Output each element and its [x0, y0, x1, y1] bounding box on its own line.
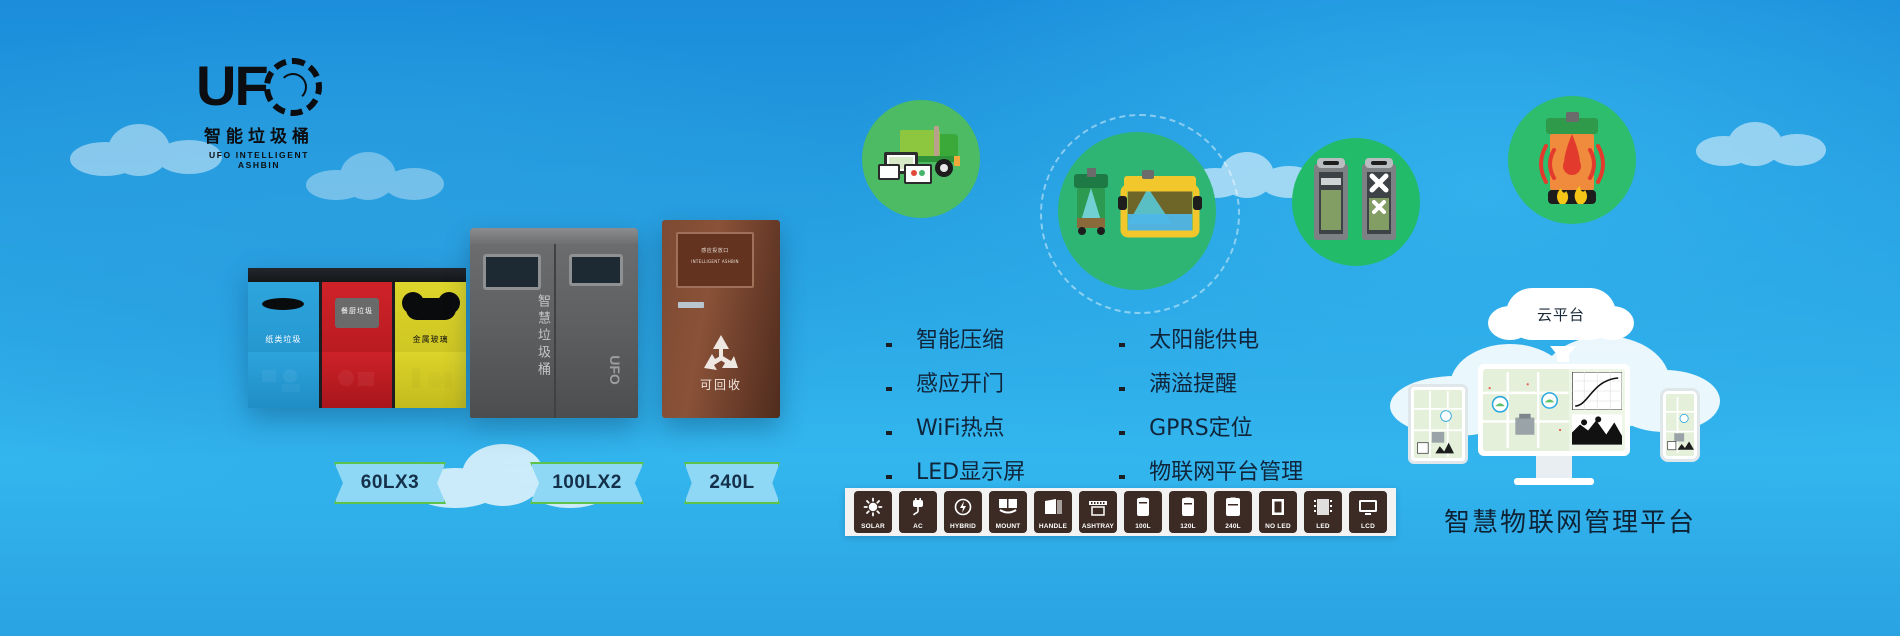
- iot-platform-illustration: 云平台: [1402, 288, 1704, 528]
- down-arrow-icon: [1550, 346, 1576, 362]
- feature-column-left: 智能压缩 感应开门 WiFi热点 LED显示屏: [878, 322, 1025, 486]
- spec-label: 100L: [1135, 523, 1151, 531]
- tablet-device: [1408, 384, 1468, 464]
- cloud-platform-tag: 云平台: [1506, 288, 1616, 340]
- recycle-icon: [698, 332, 744, 374]
- spec-label: HANDLE: [1039, 523, 1067, 531]
- spec-icon-ashtray[interactable]: ASHTRAY: [1079, 491, 1117, 533]
- cloud-decoration: [1690, 120, 1840, 170]
- spec-label: MOUNT: [996, 523, 1021, 531]
- bin-top-cover: [248, 268, 466, 282]
- product-brown-bin: 感应投放口 INTELLIGENT ASHBIN 可回收: [662, 220, 780, 418]
- feature-label: LED显示屏: [916, 454, 1025, 486]
- ufo-ring-icon: [264, 58, 322, 116]
- spec-icon-led[interactable]: LED: [1304, 491, 1342, 533]
- monitor-bullet-icon: [1111, 462, 1133, 479]
- map-dashboard: [1483, 369, 1569, 451]
- feature-label: WiFi热点: [916, 410, 1005, 442]
- logo-name-en: UFO INTELLIGENT ASHBIN: [196, 150, 322, 170]
- spec-label: LCD: [1361, 523, 1375, 531]
- capacity-badge-240l: 240L: [684, 462, 780, 504]
- monitor-screen: [1483, 369, 1625, 451]
- logo-name-cn: 智能垃圾桶: [196, 122, 322, 147]
- spec-icon-lcd[interactable]: LCD: [1349, 491, 1387, 533]
- monitor-stand: [1536, 456, 1572, 478]
- panel-line-1: 感应投放口: [678, 247, 752, 254]
- feature-list: 智能压缩 感应开门 WiFi热点 LED显示屏 太阳能供电 满溢提醒: [878, 322, 1303, 486]
- round-slot-icon: [406, 298, 456, 320]
- brand-badge: UFO: [607, 355, 623, 385]
- compartment-label: 纸类垃圾: [248, 334, 319, 345]
- monitor-bullet-icon: [878, 330, 900, 347]
- spec-label: AC: [913, 523, 923, 531]
- product-double-bin: 智慧垃圾桶 UFO: [470, 228, 638, 418]
- bin-lower-panel: [248, 352, 319, 408]
- bin-compartment-kitchen: 餐厨垃圾: [322, 282, 396, 408]
- feature-item: LED显示屏: [878, 454, 1025, 486]
- bin-240l-icon: [1214, 491, 1252, 523]
- brand-logo: UF 智能垃圾桶 UFO INTELLIGENT ASHBIN: [196, 56, 322, 156]
- fill-level-sensor-icon: [1058, 132, 1216, 290]
- chart-dashboard: [1569, 369, 1625, 451]
- display-screen: [483, 254, 541, 290]
- map-view: [1414, 390, 1462, 458]
- recycle-label: 可回收: [662, 376, 780, 393]
- feature-item: 感应开门: [878, 366, 1025, 398]
- feature-item: WiFi热点: [878, 410, 1025, 442]
- spec-icon-100l[interactable]: 100L: [1124, 491, 1162, 533]
- monitor-bullet-icon: [878, 418, 900, 435]
- area-chart: [1572, 412, 1622, 447]
- capacity-badge-60lx3: 60LX3: [334, 462, 446, 504]
- plug-icon: [899, 491, 937, 523]
- feature-label: 满溢提醒: [1149, 366, 1237, 398]
- monitor-bullet-icon: [1111, 418, 1133, 435]
- feature-label: 智能压缩: [916, 322, 1004, 354]
- spec-icon-solar[interactable]: SOLAR: [854, 491, 892, 533]
- spec-label: LED: [1316, 523, 1330, 531]
- logo-mark: UF: [196, 56, 322, 120]
- smartphone-device: [1660, 388, 1700, 462]
- spec-icon-no-led[interactable]: NO LED: [1259, 491, 1297, 533]
- compartment-label: 金属玻璃: [395, 334, 466, 345]
- wall-mount-icon: [989, 491, 1027, 523]
- bin-lower-panel: [322, 352, 393, 408]
- feature-item: 物联网平台管理: [1111, 454, 1303, 486]
- bin-compartment-left: 智慧垃圾桶: [470, 244, 556, 418]
- no-led-icon: [1259, 491, 1297, 523]
- desktop-monitor: [1478, 364, 1630, 456]
- monitor-bullet-icon: [1111, 330, 1133, 347]
- sun-icon: [854, 491, 892, 523]
- spec-icon-handle[interactable]: HANDLE: [1034, 491, 1072, 533]
- panel-line-2: INTELLIGENT ASHBIN: [678, 259, 752, 264]
- bin-compartment-right: UFO: [554, 244, 638, 418]
- display-screen: [569, 254, 623, 286]
- ashtray-icon: [1079, 491, 1117, 523]
- spec-label: 240L: [1225, 523, 1241, 531]
- cloud-decoration: [300, 150, 460, 206]
- line-chart: [1572, 372, 1622, 410]
- spec-icon-ac[interactable]: AC: [899, 491, 937, 533]
- spec-icon-strip: SOLAR AC HYBRID MOUNT HANDLE: [845, 488, 1396, 536]
- spec-label: HYBRID: [950, 523, 976, 531]
- fire-alarm-icon: [1508, 96, 1636, 224]
- bin-side-text: 智慧垃圾桶: [533, 294, 552, 379]
- compartment-label: 餐厨垃圾: [322, 306, 393, 316]
- sensor-strip: [678, 302, 704, 308]
- spec-label: ASHTRAY: [1082, 523, 1114, 531]
- monitor-bullet-icon: [1111, 374, 1133, 391]
- sensor-panel: 感应投放口 INTELLIGENT ASHBIN: [676, 232, 754, 288]
- cloud-platform-label: 云平台: [1537, 304, 1585, 325]
- bin-compartment-paper: 纸类垃圾: [248, 282, 322, 408]
- monitor-bullet-icon: [878, 374, 900, 391]
- spec-label: 120L: [1180, 523, 1196, 531]
- bin-100l-icon: [1124, 491, 1162, 523]
- feature-item: GPRS定位: [1111, 410, 1303, 442]
- feature-item: 智能压缩: [878, 322, 1025, 354]
- logo-uf-text: UF: [196, 58, 267, 114]
- oval-slot-icon: [262, 298, 304, 310]
- feature-label: 太阳能供电: [1149, 322, 1259, 354]
- lcd-icon: [1349, 491, 1387, 523]
- bin-120l-icon: [1169, 491, 1207, 523]
- bin-top-cover: [470, 228, 638, 244]
- product-triple-bin: 纸类垃圾 餐厨垃圾 金属玻璃: [248, 268, 466, 408]
- feature-item: 太阳能供电: [1111, 322, 1303, 354]
- banner-stage: UF 智能垃圾桶 UFO INTELLIGENT ASHBIN 纸类垃圾 餐厨垃…: [0, 0, 1900, 636]
- feature-label: GPRS定位: [1149, 410, 1253, 442]
- feature-item: 满溢提醒: [1111, 366, 1303, 398]
- bin-lower-panel: [395, 352, 466, 408]
- map-view: [1666, 394, 1694, 456]
- spec-icon-mount[interactable]: MOUNT: [989, 491, 1027, 533]
- spec-label: NO LED: [1265, 523, 1291, 531]
- compaction-icon: [1292, 138, 1420, 266]
- feature-label: 物联网平台管理: [1149, 454, 1303, 486]
- handle-icon: [1034, 491, 1072, 523]
- platform-title: 智慧物联网管理平台: [1420, 502, 1720, 539]
- feature-column-right: 太阳能供电 满溢提醒 GPRS定位 物联网平台管理: [1111, 322, 1303, 486]
- monitor-bullet-icon: [878, 462, 900, 479]
- hybrid-power-icon: [944, 491, 982, 523]
- feature-label: 感应开门: [916, 366, 1004, 398]
- led-icon: [1304, 491, 1342, 523]
- monitor-base: [1514, 478, 1594, 485]
- truck-dispatch-icon: [862, 100, 980, 218]
- spec-icon-120l[interactable]: 120L: [1169, 491, 1207, 533]
- capacity-badge-100lx2: 100LX2: [530, 462, 644, 504]
- bin-compartment-metal-glass: 金属玻璃: [395, 282, 466, 408]
- spec-label: SOLAR: [861, 523, 885, 531]
- spec-icon-hybrid[interactable]: HYBRID: [944, 491, 982, 533]
- spec-icon-240l[interactable]: 240L: [1214, 491, 1252, 533]
